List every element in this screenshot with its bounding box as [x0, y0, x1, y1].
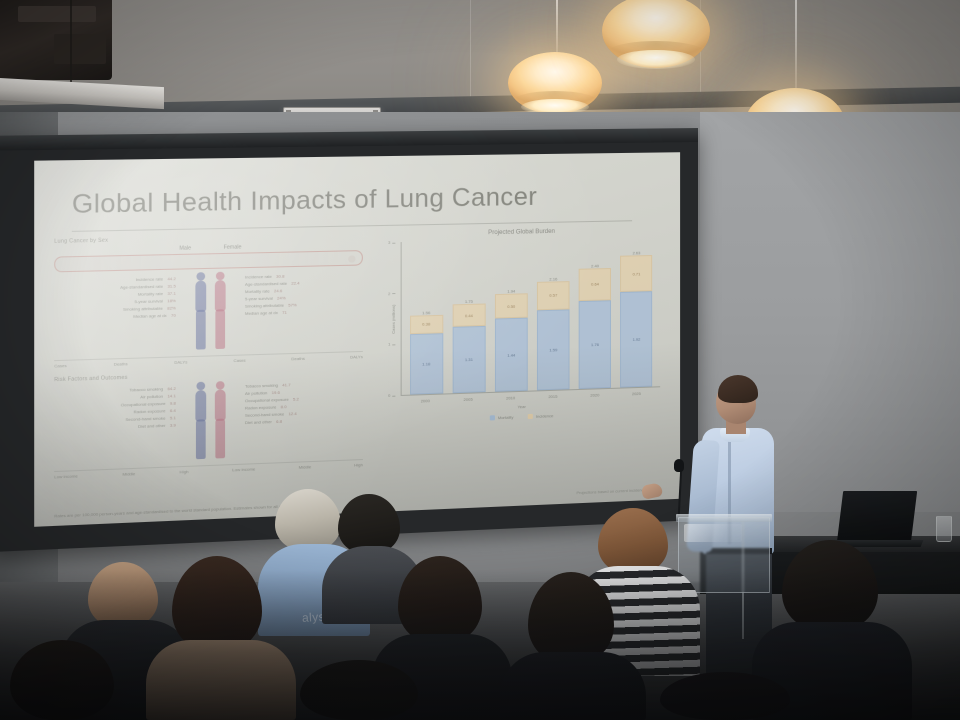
female-body-figure: [213, 381, 227, 459]
anatomy-panel: Lung Cancer by Sex Male Female: [54, 233, 363, 488]
pendant-cord: [795, 0, 797, 92]
bar-segment-mortality: 1.76: [579, 300, 611, 389]
footer-cell: Middle: [299, 464, 312, 470]
legend-label: Mortality: [498, 415, 514, 421]
stat-value: 82%: [167, 306, 176, 310]
stat-value: 22.4: [291, 281, 299, 285]
stat-row: Diet and other 6.8: [245, 420, 282, 425]
stat-value: 5.2: [293, 397, 299, 401]
bar-group: 1.750.441.31: [452, 240, 485, 393]
legend-label: Incidence: [536, 413, 553, 419]
figure-head: [216, 381, 225, 390]
podium-reflection: [684, 524, 742, 542]
bar-series-container: 1.560.381.181.750.441.311.940.501.442.16…: [402, 237, 660, 395]
audience-shoulders: [500, 652, 646, 720]
pendant-lamp: [508, 52, 602, 114]
audience-head: [338, 494, 400, 554]
microphone-icon: [674, 459, 684, 472]
figure-legs: [215, 309, 225, 349]
bar-segment-mortality: 1.59: [537, 309, 570, 390]
chart-plot-area: Cases (millions) 0 1 2 3 1.560.381.181.7…: [401, 237, 661, 396]
podium-top-surface: [676, 514, 772, 522]
stat-label: Median age at dx: [245, 311, 278, 316]
bar-segment-incidence: 0.71: [620, 255, 652, 291]
stat-row: Diet and other 3.9: [54, 423, 176, 432]
stat-value: 5.1: [170, 416, 176, 420]
stat-label: Second-hand smoke: [245, 412, 284, 418]
footer-cell: High: [354, 462, 363, 467]
stat-label: Mortality rate: [138, 292, 163, 297]
audience-head: [300, 660, 418, 720]
male-body-figure: [194, 382, 208, 460]
female-stat-column: Incidence rate 30.8 Age-standardised rat…: [245, 269, 363, 316]
stat-row: Age-standardised rate 22.4: [245, 281, 300, 286]
figure-legs: [215, 419, 225, 459]
header-female: Female: [224, 244, 242, 251]
header-male: Male: [179, 245, 191, 252]
lecture-room-scene: Global Health Impacts of Lung Cancer Lun…: [0, 0, 960, 720]
stat-value: 31.5: [167, 284, 175, 288]
pendant-lamp: [602, 0, 710, 68]
stat-row: Air pollution 19.6: [245, 391, 280, 396]
bar-group: 1.940.501.44: [495, 239, 528, 391]
footer-cell: DALYs: [350, 354, 363, 360]
anatomy-block-two: Risk Factors and Outcomes Tobacco smokin…: [54, 367, 363, 479]
bar-segment-mortality: 1.92: [620, 291, 652, 388]
stat-value: 24.6: [274, 289, 282, 293]
stat-value: 6.8: [276, 420, 282, 424]
figure-head: [216, 272, 225, 281]
y-tick: 3: [388, 240, 390, 245]
stat-label: Diet and other: [138, 424, 165, 429]
footer-cell: Deaths: [291, 356, 304, 362]
legend-item: Mortality: [490, 415, 514, 421]
ceiling-seam: [470, 0, 471, 104]
y-axis-label: Cases (millions): [391, 304, 396, 333]
anatomy-rows: Incidence rate 44.2 Age-standardised rat…: [54, 269, 363, 358]
audience-head: [275, 489, 341, 551]
x-tick-label: 2020: [579, 392, 612, 398]
stat-value: 41.7: [282, 383, 290, 387]
presenter-laptop-screen: [837, 491, 917, 543]
footer-cell: Middle: [122, 471, 135, 477]
figure-torso: [195, 280, 206, 312]
bar-segment-incidence: 0.38: [410, 314, 443, 334]
bar-segment-incidence: 0.44: [452, 304, 485, 327]
body-figures: [180, 271, 240, 350]
bar-group: 2.160.571.59: [537, 239, 570, 391]
presentation-slide: Global Health Impacts of Lung Cancer Lun…: [34, 152, 680, 527]
stat-label: Smoking attributable: [245, 304, 284, 309]
legend-item: Incidence: [528, 413, 554, 419]
stat-value: 14.1: [167, 394, 175, 398]
stat-value: 9.8: [170, 401, 176, 405]
audience-head: [660, 672, 790, 720]
stat-row: Smoking attributable 57%: [245, 303, 297, 308]
bar-segment-incidence: 0.50: [495, 293, 528, 319]
presenter-hair: [718, 375, 758, 403]
legend-swatch-icon: [490, 415, 495, 420]
stat-row: Radon exposure 8.0: [245, 405, 287, 411]
stat-label: Median age at dx: [133, 314, 166, 319]
x-tick-label: 2000: [408, 398, 442, 404]
stat-label: Incidence rate: [245, 275, 272, 280]
stat-label: Age-standardised rate: [245, 282, 287, 287]
figure-legs: [196, 419, 206, 459]
stat-label: 5-year survival: [134, 299, 162, 304]
anatomy-block-one: Male Female Incidence rate 44.2: [54, 242, 363, 369]
figure-head: [196, 382, 205, 391]
x-tick-label: 2015: [536, 393, 569, 399]
figure-torso: [215, 280, 226, 312]
stat-row: Incidence rate 30.8: [245, 274, 285, 279]
footer-cell: Cases: [54, 363, 67, 369]
stat-row: Median age at dx 71: [245, 311, 287, 316]
stat-value: 18%: [167, 299, 176, 303]
screen-surface: Global Health Impacts of Lung Cancer Lun…: [34, 152, 680, 527]
water-glass: [936, 516, 952, 542]
stat-value: 8.0: [281, 405, 287, 409]
audience-shoulders: [146, 640, 296, 720]
footer-cell: Low income: [54, 473, 78, 479]
stat-label: Incidence rate: [136, 277, 163, 282]
stat-label: Tobacco smoking: [245, 384, 278, 389]
bar-segment-mortality: 1.44: [495, 318, 528, 392]
stat-value: 37.1: [167, 292, 175, 296]
stat-label: Smoking attributable: [123, 307, 163, 312]
bar-group: 1.560.381.18: [410, 241, 443, 394]
figure-legs: [196, 310, 206, 350]
y-tick: 2: [388, 291, 390, 296]
stat-row: Second-hand smoke 12.4: [245, 412, 297, 418]
stat-value: 70: [171, 314, 176, 318]
stat-value: 24%: [277, 296, 286, 300]
stat-label: 5-year survival: [245, 297, 273, 302]
stat-label: Radon exposure: [133, 409, 165, 414]
pendant-cord: [556, 0, 558, 56]
stat-row: Mortality rate 24.6: [245, 289, 282, 294]
figure-torso: [195, 390, 206, 422]
bar-segment-mortality: 1.18: [410, 334, 443, 395]
footer-cell: DALYs: [174, 359, 187, 365]
male-body-figure: [194, 272, 208, 350]
bar-group: 2.400.641.76: [579, 238, 611, 389]
stat-label: Air pollution: [245, 391, 267, 396]
bar-segment-mortality: 1.31: [452, 326, 485, 393]
stat-value: 19.6: [272, 391, 280, 395]
x-tick-label: 2010: [494, 395, 527, 401]
stat-label: Tobacco smoking: [129, 387, 163, 392]
slide-body: Lung Cancer by Sex Male Female: [54, 227, 666, 488]
stat-label: Age-standardised rate: [120, 285, 163, 290]
stat-row: Median age at dx 70: [54, 314, 176, 321]
stat-row: 5-year survival 24%: [245, 296, 286, 301]
stat-label: Occupational exposure: [121, 402, 166, 408]
stat-value: 71: [282, 311, 287, 315]
stat-value: 6.4: [170, 409, 176, 413]
figure-torso: [215, 389, 226, 421]
stat-row: Tobacco smoking 41.7: [245, 383, 291, 389]
anatomy-rows: Tobacco smoking 64.2 Air pollution 14.1 …: [54, 377, 363, 469]
bar-segment-incidence: 0.64: [579, 268, 611, 301]
stat-value: 12.4: [288, 412, 296, 416]
legend-swatch-icon: [528, 414, 533, 419]
footer-cell: Cases: [234, 358, 246, 364]
stat-value: 3.9: [170, 423, 176, 427]
footer-cell: High: [180, 469, 189, 475]
female-body-figure: [213, 272, 227, 349]
projector-rig: [0, 0, 112, 80]
projection-screen: Global Health Impacts of Lung Cancer Lun…: [0, 128, 698, 552]
stat-label: Occupational exposure: [245, 398, 289, 404]
x-tick-label: 2025: [620, 391, 652, 397]
stat-label: Mortality rate: [245, 289, 270, 294]
stat-value: 30.8: [276, 274, 284, 278]
projector-mount-rod: [70, 0, 72, 84]
bar-group: 2.630.711.92: [620, 237, 652, 388]
stat-label: Second-hand smoke: [125, 416, 165, 422]
female-risk-column: Tobacco smoking 41.7 Air pollution 19.6 …: [245, 377, 363, 425]
bar-chart-panel: Projected Global Burden Cases (millions)…: [373, 227, 666, 475]
stat-row: Occupational exposure 5.2: [245, 397, 299, 403]
stat-label: Diet and other: [245, 420, 272, 425]
slide-title: Global Health Impacts of Lung Cancer: [72, 181, 654, 221]
y-tick: 0: [388, 393, 390, 398]
footer-cell: Low income: [232, 466, 255, 472]
male-stat-column: Incidence rate 44.2 Age-standardised rat…: [54, 273, 176, 321]
bar-segment-incidence: 0.57: [537, 281, 570, 310]
stat-value: 44.2: [167, 277, 175, 281]
figure-head: [196, 272, 205, 281]
stat-value: 64.2: [167, 387, 175, 391]
stat-label: Radon exposure: [245, 405, 276, 410]
male-risk-column: Tobacco smoking 64.2 Air pollution 14.1 …: [54, 383, 176, 432]
stat-value: 57%: [288, 303, 297, 307]
body-figures: [180, 381, 240, 460]
footer-cell: Deaths: [114, 361, 128, 367]
y-tick: 1: [388, 342, 390, 347]
stat-label: Air pollution: [140, 395, 163, 400]
x-tick-label: 2005: [451, 396, 484, 402]
